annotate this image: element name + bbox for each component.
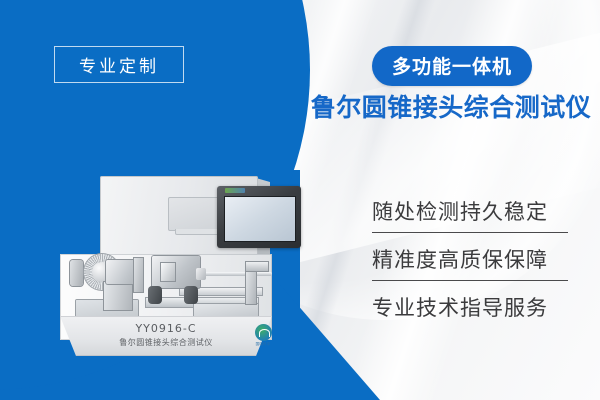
hmi-touchscreen-bezel: [217, 186, 301, 248]
push-rod: [200, 272, 272, 276]
vertical-post: [134, 258, 143, 292]
push-rod-cap: [196, 268, 206, 280]
hmi-screen: [224, 196, 296, 242]
subtitle-pill: 多功能一体机: [372, 46, 532, 86]
clamp-knob-right: [184, 286, 198, 304]
logo-mark-icon: [255, 324, 272, 341]
manufacturer-logo: 国瑞环宇: [252, 324, 274, 348]
banner-stage: 专业定制: [0, 0, 600, 400]
product-photo: YY0916-C 鲁尔圆锥接头综合测试仪 国瑞环宇: [60, 176, 292, 372]
model-subtitle: 鲁尔圆锥接头综合测试仪: [60, 337, 272, 348]
machine-nameplate: YY0916-C 鲁尔圆锥接头综合测试仪: [60, 322, 272, 348]
linear-slide: [194, 304, 258, 318]
feature-item-3: 专业技术指导服务: [372, 292, 568, 328]
left-clamp: [70, 260, 83, 286]
mechanical-assembly: [60, 248, 272, 326]
model-number: YY0916-C: [60, 322, 272, 335]
right-bracket-arm: [246, 262, 268, 271]
feature-item-1: 随处检测持久稳定: [372, 196, 568, 232]
test-fixture: [152, 256, 200, 288]
cabinet-body: [100, 176, 258, 256]
subtitle-pill-label: 多功能一体机: [392, 56, 512, 78]
clamp-knob-left: [148, 286, 162, 304]
badge-label: 专业定制: [79, 52, 159, 77]
pedestal-support: [104, 282, 132, 310]
feature-list: 随处检测持久稳定 精准度高质保保障 专业技术指导服务: [372, 196, 568, 328]
feature-item-2: 精准度高质保保障: [372, 244, 568, 280]
badge-professional-custom: 专业定制: [54, 46, 184, 83]
hmi-brand-stripe: [225, 188, 245, 193]
logo-text: 国瑞环宇: [252, 342, 274, 347]
feature-divider-2: [372, 280, 568, 281]
feature-divider-1: [372, 232, 568, 233]
page-title: 鲁尔圆锥接头综合测试仪: [305, 88, 597, 124]
